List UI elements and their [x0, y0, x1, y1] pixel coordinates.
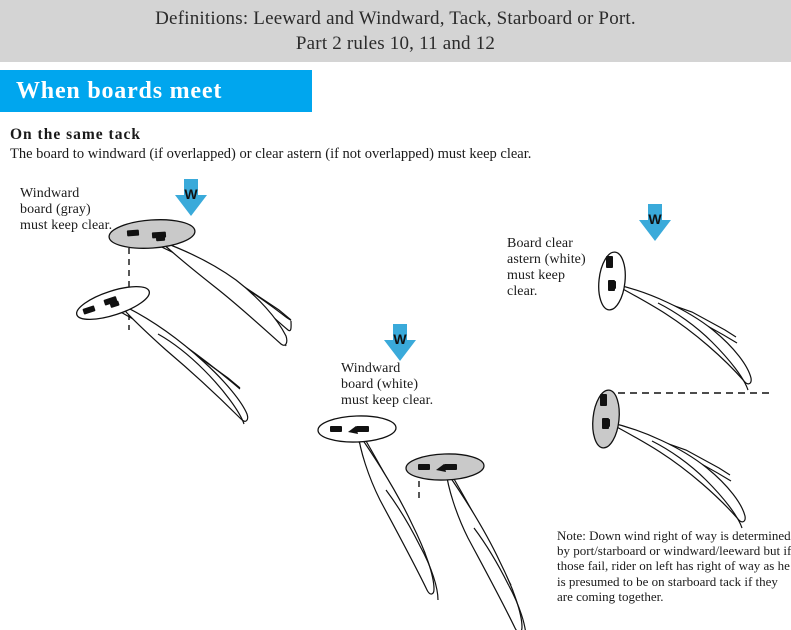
header-title-line-1: Definitions: Leeward and Windward, Tack,… [155, 6, 636, 31]
wind-arrow-label: W [393, 331, 407, 347]
wind-arrow-label: W [184, 186, 198, 202]
gray-windward-board [108, 217, 291, 346]
footstrap [330, 426, 342, 432]
intro-text-block: On the same tack The board to windward (… [10, 126, 650, 163]
footstrap [444, 464, 457, 470]
wind-arrow-label: W [648, 211, 662, 227]
footstrap [103, 296, 117, 306]
white-board-hull [73, 280, 153, 326]
board-group-right-lower [590, 389, 772, 528]
white-windward-board-middle [318, 415, 438, 600]
footstrap [418, 464, 430, 470]
header-title-line-2: Part 2 rules 10, 11 and 12 [296, 31, 495, 56]
footstrap [348, 426, 358, 434]
white-board-hull-middle [318, 415, 397, 444]
section-banner: When boards meet [0, 70, 312, 112]
header-band: Definitions: Leeward and Windward, Tack,… [0, 0, 791, 62]
wind-direction-arrow-icon: W [382, 323, 418, 363]
white-leeward-board [73, 280, 247, 424]
footstrap [156, 236, 165, 242]
callout-board-clear-astern: Board clear astern (white) must keep cle… [507, 236, 627, 300]
intro-heading: On the same tack [10, 126, 650, 144]
gray-board-hull-middle [406, 453, 485, 482]
wind-direction-arrow-icon: W [637, 203, 673, 243]
intro-body: The board to windward (if overlapped) or… [10, 146, 650, 163]
gray-board-lower-right [590, 389, 745, 528]
note-text-block: Note: Down wind right of way is determin… [557, 528, 791, 604]
footstrap [356, 426, 369, 432]
gray-leeward-board-middle [406, 453, 526, 630]
footstrap [602, 418, 609, 429]
callout-windward-gray-board: Windward board (gray) must keep clear. [20, 186, 160, 234]
wind-direction-arrow-icon: W [173, 178, 209, 218]
footstrap [602, 419, 610, 427]
footstrap [600, 394, 607, 406]
gray-board-hull-right-lower [590, 389, 622, 449]
footstrap [110, 301, 120, 309]
footstrap [82, 305, 95, 314]
callout-windward-white-board: Windward board (white) must keep clear. [341, 361, 491, 409]
board-group-middle-pair [318, 415, 526, 630]
board-group-left-pair [73, 217, 291, 424]
section-banner-title: When boards meet [0, 78, 222, 105]
footstrap [436, 464, 446, 472]
